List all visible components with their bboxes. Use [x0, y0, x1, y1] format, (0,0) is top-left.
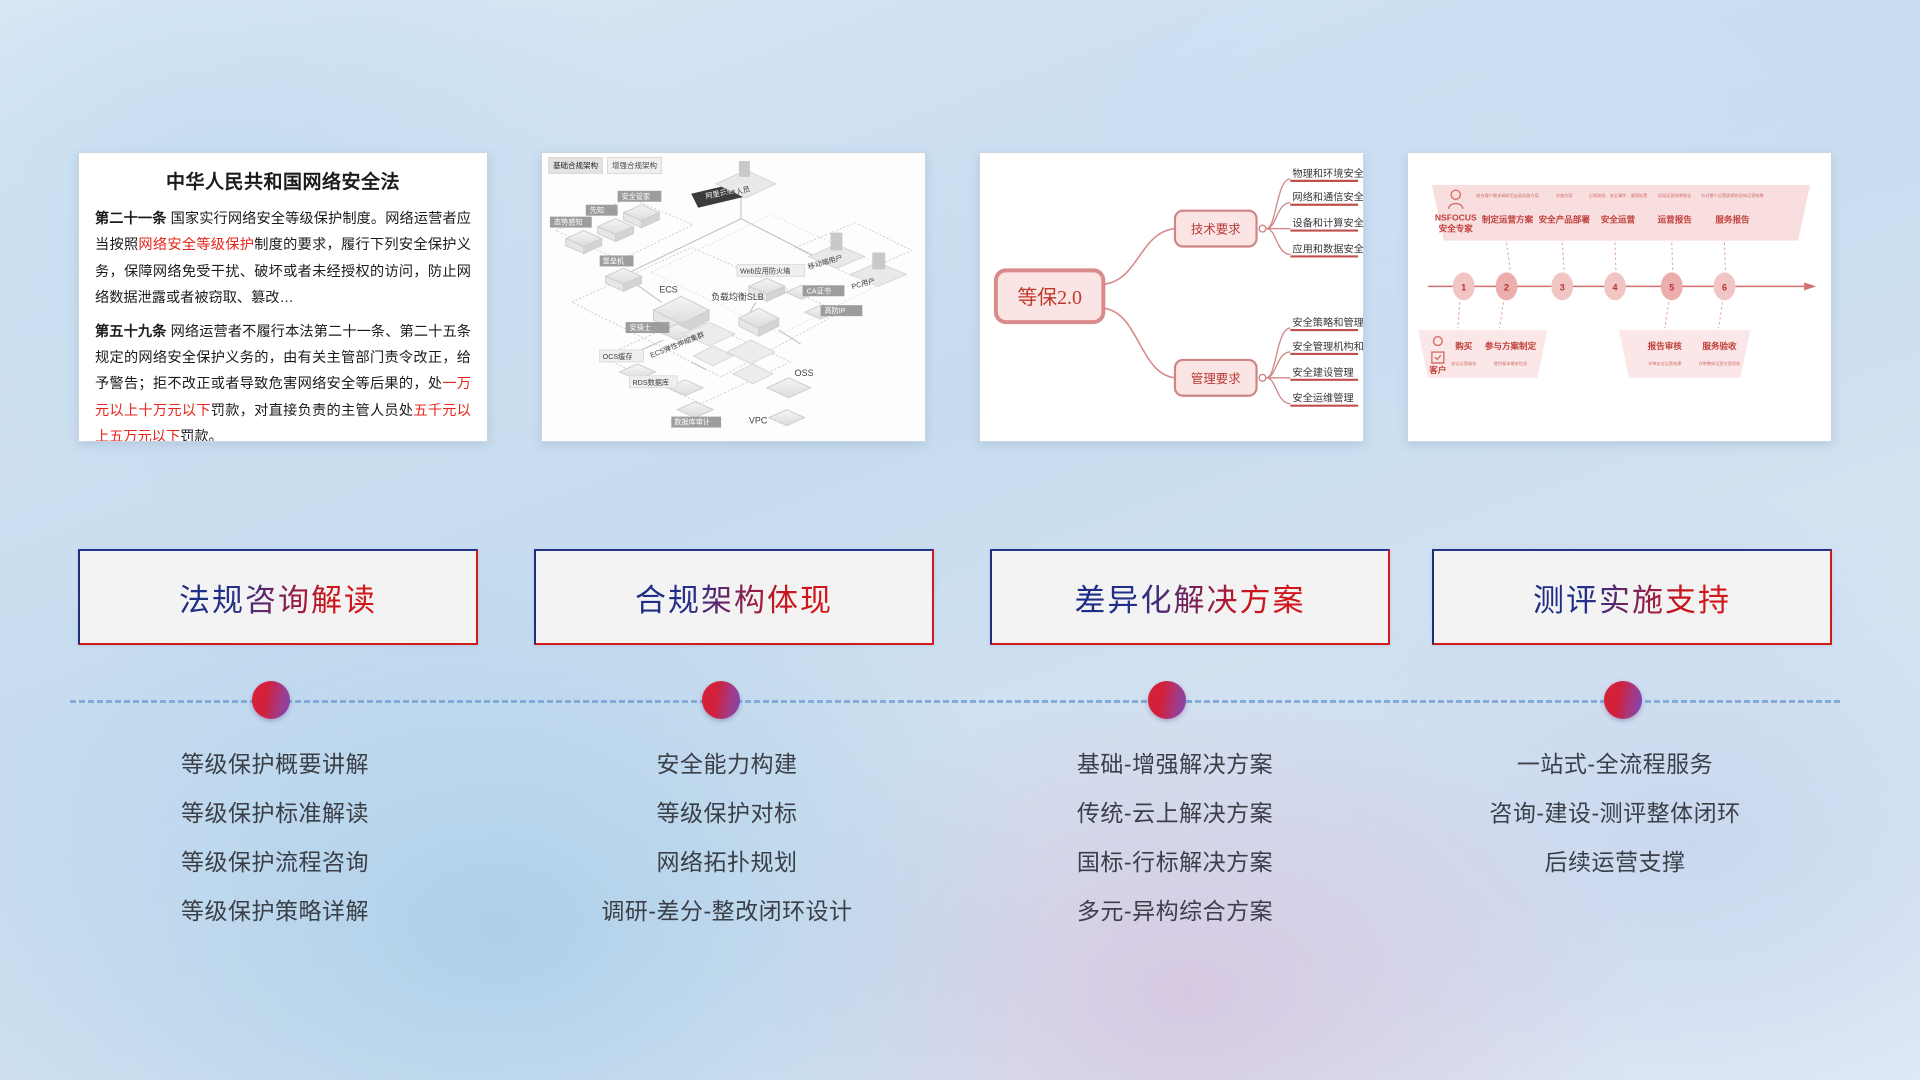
svg-text:VPC: VPC: [749, 416, 768, 426]
top-title-2: 安全产品部署: [1539, 214, 1591, 225]
nsfocus-timeline-diagram: NSFOCUS 安全专家 客户 1 2 3 4 5: [1408, 153, 1831, 441]
bottom-title-4: 服务验收: [1702, 340, 1737, 351]
mindmap-branch-management: 管理要求 安全策略和管理制度 安全管理机构: [1175, 316, 1363, 406]
bottom-sub-4: 评审整体运营方案验收: [1699, 360, 1742, 366]
timeline-dot-4: [1604, 681, 1642, 719]
top-sub-4: 阶段运营效果报告: [1658, 192, 1691, 198]
mindmap-leaf-mgmt-4: 安全运维管理: [1292, 392, 1353, 405]
svg-text:3: 3: [1560, 282, 1565, 292]
law-article-59: 第五十九条 网络运营者不履行本法第二十一条、第二十五条规定的网络安全保护义务的，…: [95, 319, 471, 442]
svg-text:态势感知: 态势感知: [554, 218, 583, 227]
bottom-sub-1: 安全运营服务: [1451, 360, 1476, 366]
mindmap-leaf-mgmt-3: 安全建设管理: [1292, 366, 1353, 379]
timeline-step-3: 3: [1551, 272, 1573, 300]
law-title: 中华人民共和国网络安全法: [95, 167, 471, 194]
node-rds-database: RDS数据库: [630, 376, 704, 396]
list-item: 传统-云上解决方案: [960, 789, 1390, 838]
card-cybersecurity-law: 中华人民共和国网络安全法 第二十一条 国家实行网络安全等级保护制度。网络运营者应…: [78, 152, 488, 442]
node-anti-ddos-ip: 高防IP: [805, 305, 863, 319]
bottom-title-3: 报告审核: [1648, 340, 1683, 351]
list-item: 等级保护对标: [512, 789, 942, 838]
list-item: 一站式-全流程服务: [1400, 740, 1830, 789]
node-oss: OSS: [767, 368, 814, 398]
list-item: 国标-行标解决方案: [960, 838, 1390, 887]
top-title-5: 服务报告: [1715, 214, 1750, 225]
section-title-label-3: 差异化解决方案: [1075, 575, 1306, 620]
list-item: 网络拓扑规划: [512, 838, 942, 887]
tab-basic-architecture[interactable]: 基础合规架构: [548, 157, 603, 174]
node-database-audit: 数据库审计: [671, 402, 721, 428]
list-item: 基础-增强解决方案: [960, 740, 1390, 789]
list-item: 调研-差分-整改闭环设计: [512, 887, 942, 936]
svg-text:ECS: ECS: [659, 284, 677, 294]
tab-enhanced-architecture[interactable]: 增强合规架构: [607, 157, 662, 174]
node-mobile-user: 移动端用户: [807, 233, 865, 272]
timeline-step-1: 1: [1453, 272, 1475, 300]
timeline-dot-1: [252, 681, 290, 719]
section-title-row: 法规咨询解读 合规架构体现 差异化解决方案 测评实施支持: [0, 549, 1920, 645]
top-sub-2: 实施方案: [1556, 192, 1574, 198]
svg-text:RDS数据库: RDS数据库: [633, 378, 670, 387]
bottom-title-1: 购买: [1455, 340, 1473, 351]
list-item: 等级保护概要讲解: [60, 740, 490, 789]
top-title-3: 安全运营: [1601, 214, 1636, 225]
bottom-title-2: 参与方案制定: [1485, 340, 1537, 351]
mindmap-diagram: 等保2.0 技术要求: [980, 153, 1363, 441]
card-compliance-architecture: 基础合规架构 增强合规架构: [541, 152, 926, 442]
list-item: 后续运营支撑: [1400, 838, 1830, 887]
timeline-arrow: [1804, 282, 1816, 290]
list-item: 咨询-建设-测评整体闭环: [1400, 789, 1830, 838]
svg-text:CA证书: CA证书: [807, 286, 831, 295]
bottom-sub-3: 评审安全运营效果: [1648, 360, 1682, 366]
top-sub-3: 日常巡检、安全事件、漏洞处置: [1589, 192, 1647, 198]
law-article-21: 第二十一条 国家实行网络安全等级保护制度。网络运营者应当按照网络安全等级保护制度…: [95, 206, 471, 312]
svg-text:安骑士: 安骑士: [630, 323, 651, 332]
mindmap-leaf-tech-3: 设备和计算安全: [1292, 217, 1363, 230]
nsfocus-svg: NSFOCUS 安全专家 客户 1 2 3 4 5: [1408, 153, 1831, 442]
svg-text:数据库审计: 数据库审计: [674, 418, 710, 427]
timeline-dot-3: [1148, 681, 1186, 719]
detail-column-2: 安全能力构建 等级保护对标 网络拓扑规划 调研-差分-整改闭环设计: [512, 740, 942, 936]
mindmap-branch-management-label: 管理要求: [1191, 371, 1241, 386]
detail-columns: 等级保护概要讲解 等级保护标准解读 等级保护流程咨询 等级保护策略详解 安全能力…: [0, 740, 1920, 1000]
timeline-dot-2: [702, 681, 740, 719]
law-article-59-label: 第五十九条: [95, 324, 167, 340]
mindmap-leaf-mgmt-1: 安全策略和管理制度: [1292, 316, 1363, 329]
timeline-step-4: 4: [1604, 272, 1626, 300]
mindmap-branch-technical-label: 技术要求: [1191, 223, 1241, 237]
svg-text:堡垒机: 堡垒机: [603, 256, 624, 265]
svg-text:OCS缓存: OCS缓存: [603, 352, 633, 361]
top-sub-5: 针对整个运营周期的总体运营效果: [1701, 192, 1764, 198]
bottom-sub-2: 提供基本需求信息: [1494, 360, 1527, 366]
card-dengbao-mindmap: 等保2.0 技术要求: [979, 152, 1364, 442]
law-article-21-highlight: 网络安全等级保护: [138, 237, 254, 253]
section-title-box-3[interactable]: 差异化解决方案: [990, 549, 1390, 645]
mindmap-svg: 等保2.0 技术要求: [980, 153, 1363, 441]
mindmap-leaf-mgmt-2: 安全管理机构和人员: [1292, 340, 1363, 353]
list-item: 等级保护标准解读: [60, 789, 490, 838]
timeline-step-6: 6: [1714, 272, 1736, 300]
node-vpc: VPC: [749, 410, 805, 426]
svg-text:1: 1: [1461, 282, 1466, 292]
top-sub-1: 结合客户需求调研后出具实施方案: [1476, 192, 1539, 198]
detail-column-4: 一站式-全流程服务 咨询-建设-测评整体闭环 后续运营支撑: [1400, 740, 1830, 887]
list-item: 安全能力构建: [512, 740, 942, 789]
timeline-dashed-line: [70, 700, 1840, 703]
law-article-59-text-mid: 罚款，对直接负责的主管人员处: [211, 403, 414, 419]
mindmap-leaf-tech-4: 应用和数据安全: [1292, 242, 1363, 255]
mindmap-root-label: 等保2.0: [1017, 287, 1082, 309]
svg-text:负载均衡SLB: 负载均衡SLB: [711, 291, 764, 302]
timeline-connector: [0, 697, 1920, 707]
law-article-59-text-end: 罚款。: [180, 429, 223, 442]
section-title-box-1[interactable]: 法规咨询解读: [78, 549, 478, 645]
section-title-box-2[interactable]: 合规架构体现: [534, 549, 934, 645]
section-title-box-4[interactable]: 测评实施支持: [1432, 549, 1832, 645]
law-article-21-label: 第二十一条: [95, 211, 167, 227]
nsfocus-expert-line2: 安全专家: [1439, 223, 1474, 234]
card-nsfocus-service-flow: NSFOCUS 安全专家 客户 1 2 3 4 5: [1407, 152, 1832, 442]
timeline-step-5: 5: [1661, 272, 1683, 300]
node-ca-certificate: CA证书: [786, 285, 845, 299]
timeline-step-2: 2: [1496, 272, 1518, 300]
section-title-label-1: 法规咨询解读: [179, 575, 377, 620]
svg-text:OSS: OSS: [795, 368, 814, 378]
svg-text:2: 2: [1504, 282, 1509, 292]
svg-text:6: 6: [1722, 282, 1727, 292]
top-title-1: 制定运营方案: [1482, 214, 1534, 225]
node-situational-awareness: 态势感知: [550, 217, 602, 254]
node-ops-personnel: 运维人员: [716, 161, 776, 201]
law-text-body: 中华人民共和国网络安全法 第二十一条 国家实行网络安全等级保护制度。网络运营者应…: [79, 153, 487, 442]
svg-text:安全管家: 安全管家: [622, 192, 651, 201]
nsfocus-expert-line1: NSFOCUS: [1435, 213, 1477, 223]
list-item: 等级保护策略详解: [60, 887, 490, 936]
svg-text:5: 5: [1669, 282, 1674, 292]
list-item: 多元-异构综合方案: [960, 887, 1390, 936]
svg-text:高防IP: 高防IP: [825, 306, 846, 315]
svg-text:Web应用防火墙: Web应用防火墙: [740, 266, 790, 275]
mindmap-leaf-tech-2: 网络和通信安全: [1292, 191, 1363, 204]
section-title-label-2: 合规架构体现: [635, 575, 833, 620]
svg-text:4: 4: [1613, 282, 1618, 292]
mindmap-branch-technical: 技术要求 物理和环境安全 网络和通信安全: [1175, 167, 1363, 257]
detail-column-1: 等级保护概要讲解 等级保护标准解读 等级保护流程咨询 等级保护策略详解: [60, 740, 490, 936]
mindmap-root-node: 等保2.0: [996, 270, 1103, 322]
svg-text:先知: 先知: [590, 206, 604, 215]
top-title-4: 运营报告: [1658, 214, 1693, 225]
node-bastion-host: 堡垒机: [600, 255, 642, 291]
detail-column-3: 基础-增强解决方案 传统-云上解决方案 国标-行标解决方案 多元-异构综合方案: [960, 740, 1390, 936]
reference-cards-row: 中华人民共和国网络安全法 第二十一条 国家实行网络安全等级保护制度。网络运营者应…: [0, 152, 1920, 452]
architecture-svg: 阿里云盾 态势感知 先知: [542, 153, 925, 441]
architecture-diagram: 基础合规架构 增强合规架构: [542, 153, 925, 441]
list-item: 等级保护流程咨询: [60, 838, 490, 887]
architecture-tab-strip: 基础合规架构 增强合规架构: [548, 157, 662, 174]
mindmap-leaf-tech-1: 物理和环境安全: [1292, 167, 1363, 180]
nsfocus-customer-label: 客户: [1428, 364, 1446, 375]
bottom-banner-right: [1619, 330, 1750, 378]
section-title-label-4: 测评实施支持: [1533, 575, 1731, 620]
